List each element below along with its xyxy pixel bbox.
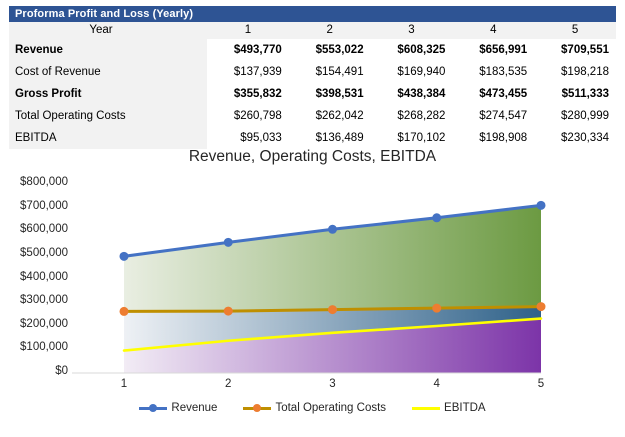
cell-total-operating-costs-y3: $268,282: [371, 105, 453, 127]
y-axis-tick-label: $800,000: [20, 176, 68, 188]
cell-revenue-y3: $608,325: [371, 39, 453, 61]
y-axis-tick-label: $400,000: [20, 271, 68, 283]
chart-legend: Revenue Total Operating Costs EBITDA: [0, 402, 625, 414]
profit-loss-table: Year 1 2 3 4 5 Revenue $493,770 $553,022…: [9, 22, 616, 149]
cell-revenue-y2: $553,022: [289, 39, 371, 61]
panel-title: Proforma Profit and Loss (Yearly): [9, 6, 616, 22]
row-label-total-operating-costs: Total Operating Costs: [9, 105, 207, 127]
y-axis-tick-label: $700,000: [20, 200, 68, 212]
legend-marker-total-operating-costs-icon: [243, 403, 271, 413]
cell-total-operating-costs-y1: $260,798: [207, 105, 289, 127]
y-axis-tick-label: $600,000: [20, 223, 68, 235]
y-axis-tick-label: $200,000: [20, 318, 68, 330]
proforma-profit-loss-panel: Proforma Profit and Loss (Yearly) Year 1…: [9, 6, 616, 136]
chart-canvas: [0, 140, 625, 398]
cell-gross-profit-y4: $473,455: [452, 83, 534, 105]
y-axis-tick-label: $300,000: [20, 294, 68, 306]
table-row: Cost of Revenue $137,939 $154,491 $169,9…: [9, 61, 616, 83]
row-label-revenue: Revenue: [9, 39, 207, 61]
legend-marker-revenue-icon: [139, 403, 167, 413]
column-header-1: 1: [207, 22, 289, 39]
cell-gross-profit-y1: $355,832: [207, 83, 289, 105]
cell-cost-of-revenue-y2: $154,491: [289, 61, 371, 83]
cell-gross-profit-y5: $511,333: [534, 83, 616, 105]
cell-cost-of-revenue-y1: $137,939: [207, 61, 289, 83]
column-header-3: 3: [371, 22, 453, 39]
cell-total-operating-costs-y5: $280,999: [534, 105, 616, 127]
x-axis-tick-label: 1: [104, 378, 144, 390]
row-label-cost-of-revenue: Cost of Revenue: [9, 61, 207, 83]
legend-item-ebitda[interactable]: EBITDA: [412, 402, 486, 414]
x-axis-tick-label: 5: [521, 378, 561, 390]
plot-area: $0$100,000$200,000$300,000$400,000$500,0…: [0, 140, 625, 398]
column-header-2: 2: [289, 22, 371, 39]
table-row: Revenue $493,770 $553,022 $608,325 $656,…: [9, 39, 616, 61]
y-axis-tick-label: $100,000: [20, 341, 68, 353]
table-row: Gross Profit $355,832 $398,531 $438,384 …: [9, 83, 616, 105]
row-label-gross-profit: Gross Profit: [9, 83, 207, 105]
cell-cost-of-revenue-y3: $169,940: [371, 61, 453, 83]
legend-marker-ebitda-icon: [412, 403, 440, 413]
x-axis-tick-label: 4: [417, 378, 457, 390]
table-head: Year 1 2 3 4 5: [9, 22, 616, 39]
cell-gross-profit-y3: $438,384: [371, 83, 453, 105]
cell-revenue-y4: $656,991: [452, 39, 534, 61]
cell-cost-of-revenue-y5: $198,218: [534, 61, 616, 83]
legend-label-revenue: Revenue: [171, 402, 217, 414]
column-header-4: 4: [452, 22, 534, 39]
legend-item-total-operating-costs[interactable]: Total Operating Costs: [243, 402, 386, 414]
column-header-5: 5: [534, 22, 616, 39]
cell-revenue-y1: $493,770: [207, 39, 289, 61]
y-axis-tick-label: $500,000: [20, 247, 68, 259]
table-header-row: Year 1 2 3 4 5: [9, 22, 616, 39]
cell-cost-of-revenue-y4: $183,535: [452, 61, 534, 83]
x-axis-tick-label: 3: [313, 378, 353, 390]
cell-total-operating-costs-y2: $262,042: [289, 105, 371, 127]
legend-label-ebitda: EBITDA: [444, 402, 486, 414]
cell-total-operating-costs-y4: $274,547: [452, 105, 534, 127]
x-axis-tick-label: 2: [208, 378, 248, 390]
cell-gross-profit-y2: $398,531: [289, 83, 371, 105]
revenue-operating-costs-ebitda-chart: Revenue, Operating Costs, EBITDA $0$100,…: [0, 140, 625, 437]
table-row: Total Operating Costs $260,798 $262,042 …: [9, 105, 616, 127]
table-body: Revenue $493,770 $553,022 $608,325 $656,…: [9, 39, 616, 149]
cell-revenue-y5: $709,551: [534, 39, 616, 61]
y-axis-tick-label: $0: [55, 365, 68, 377]
column-header-year: Year: [9, 22, 207, 39]
legend-item-revenue[interactable]: Revenue: [139, 402, 217, 414]
legend-label-total-operating-costs: Total Operating Costs: [275, 402, 386, 414]
